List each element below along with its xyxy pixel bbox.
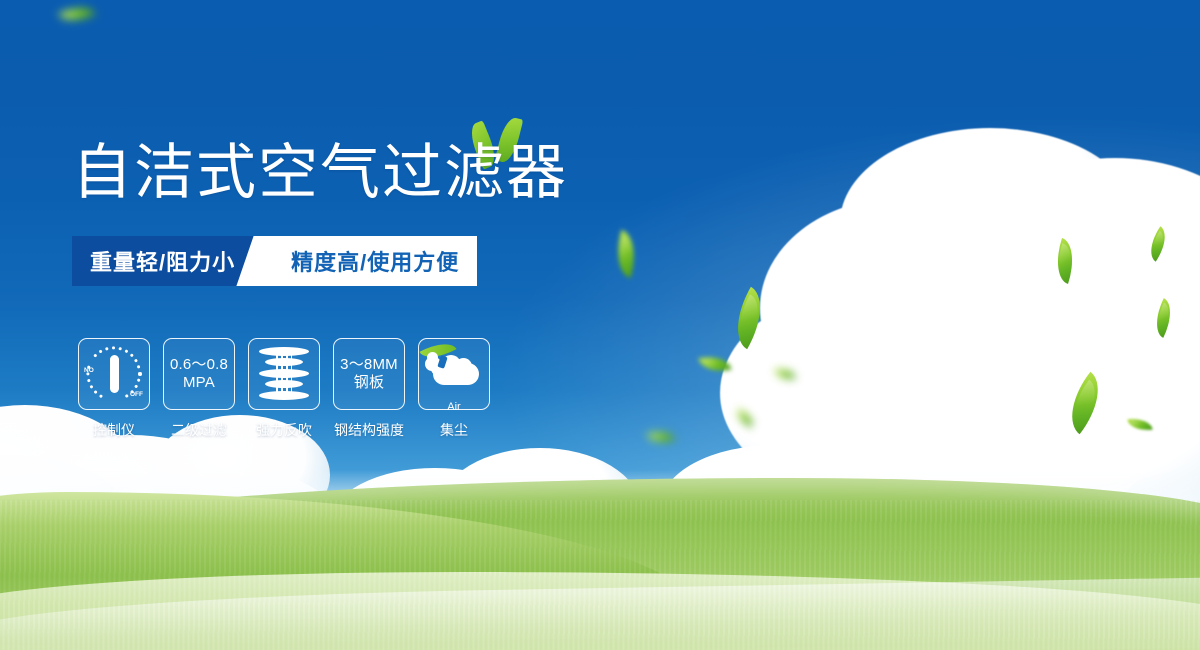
cloud-air-icon: Air bbox=[425, 349, 483, 399]
coil-ring bbox=[259, 391, 309, 400]
gauge-icon: NO OFF bbox=[83, 343, 145, 405]
coil-ring bbox=[265, 358, 303, 366]
pressure-value-line2: MPA bbox=[170, 374, 228, 392]
subtitle-right-segment: 精度高/使用方便 bbox=[261, 236, 477, 286]
page-title: 自洁式空气过滤器 bbox=[72, 143, 568, 203]
subtitle-bar: 重量轻/阻力小 精度高/使用方便 bbox=[72, 236, 477, 286]
feature-icon-box bbox=[248, 338, 320, 410]
feature-label: 二级过滤 bbox=[171, 420, 227, 440]
gauge-label-no: NO bbox=[84, 367, 94, 374]
feature-label: 控制仪 bbox=[93, 420, 135, 440]
pressure-text-icon: 0.6〜0.8 MPA bbox=[170, 356, 228, 393]
cloud-puff bbox=[455, 358, 472, 375]
feature-icon-box: NO OFF bbox=[78, 338, 150, 410]
feature-list: NO OFF 控制仪 0.6〜0.8 MPA 二级过滤 bbox=[78, 338, 490, 440]
feature-icon-box: 0.6〜0.8 MPA bbox=[163, 338, 235, 410]
coil-filter-icon bbox=[259, 347, 309, 401]
feature-item-dust-collection[interactable]: Air 集尘 bbox=[418, 338, 490, 440]
air-label: Air bbox=[425, 401, 483, 413]
feature-item-control-gauge[interactable]: NO OFF 控制仪 bbox=[78, 338, 150, 440]
feature-item-strong-blowback[interactable]: 强力反吹 bbox=[248, 338, 320, 440]
feature-icon-box: 3〜8MM 钢板 bbox=[333, 338, 405, 410]
pressure-value-line1: 0.6〜0.8 bbox=[170, 356, 228, 373]
coil-ring bbox=[259, 369, 309, 378]
gauge-label-off: OFF bbox=[130, 391, 143, 398]
feature-item-two-stage-filter[interactable]: 0.6〜0.8 MPA 二级过滤 bbox=[163, 338, 235, 440]
subtitle-left-segment: 重量轻/阻力小 bbox=[72, 236, 261, 286]
feature-icon-box: Air bbox=[418, 338, 490, 410]
steel-value-line2: 钢板 bbox=[340, 374, 398, 392]
feature-label: 集尘 bbox=[440, 420, 468, 440]
feature-label: 强力反吹 bbox=[256, 420, 312, 440]
feature-item-steel-strength[interactable]: 3〜8MM 钢板 钢结构强度 bbox=[333, 338, 405, 440]
coil-ring bbox=[265, 380, 303, 388]
steel-thickness-text-icon: 3〜8MM 钢板 bbox=[340, 356, 398, 393]
steel-value-line1: 3〜8MM bbox=[340, 356, 398, 373]
feature-label: 钢结构强度 bbox=[334, 420, 404, 440]
banner-content: 自洁式空气过滤器 重量轻/阻力小 精度高/使用方便 bbox=[0, 0, 1200, 650]
coil-ring bbox=[259, 347, 309, 356]
product-banner: 自洁式空气过滤器 重量轻/阻力小 精度高/使用方便 bbox=[0, 0, 1200, 650]
gauge-needle-icon bbox=[110, 355, 119, 393]
